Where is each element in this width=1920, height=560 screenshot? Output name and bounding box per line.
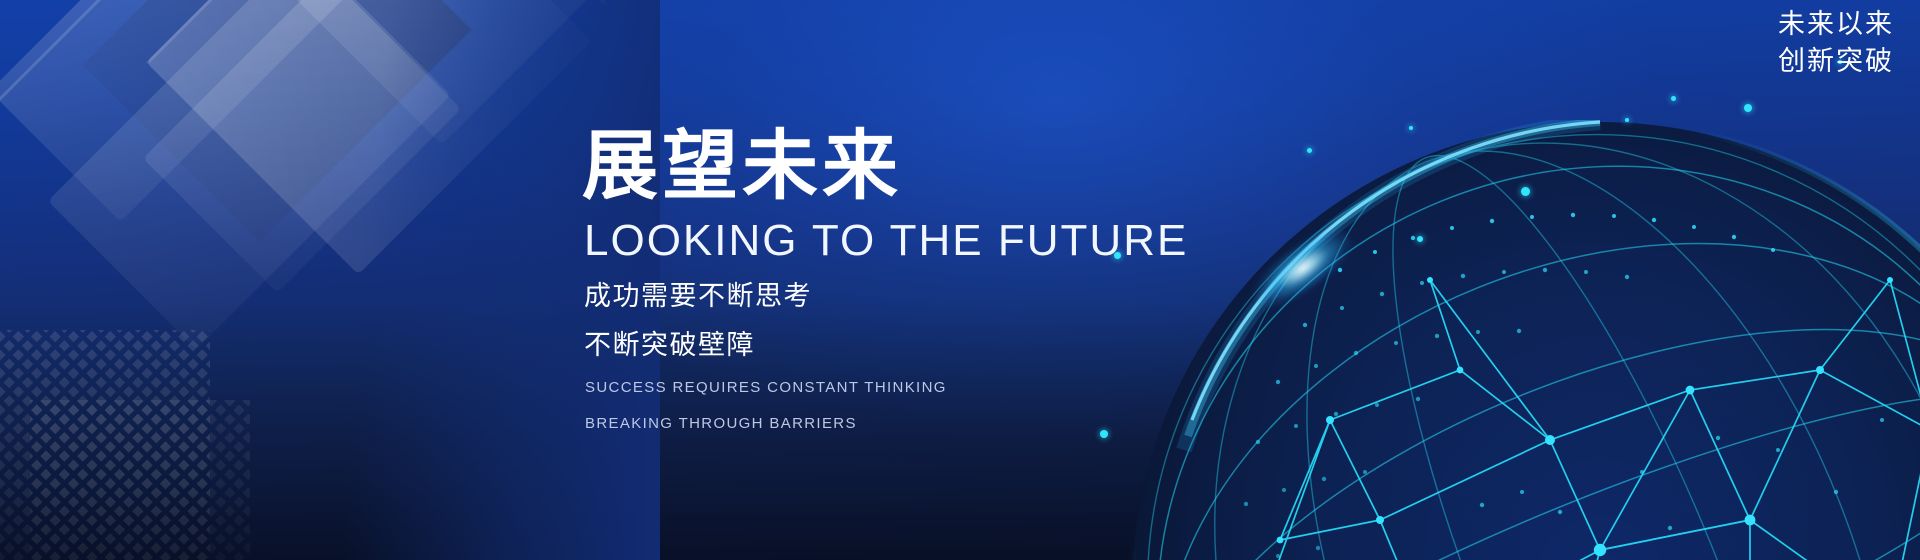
sparkle-dot bbox=[1521, 187, 1530, 196]
diagonal-slabs-svg bbox=[0, 0, 660, 560]
subtitle-chinese-line-1: 成功需要不断思考 bbox=[584, 279, 1188, 315]
sparkle-dot bbox=[1417, 236, 1423, 242]
sparkle-dot bbox=[1671, 96, 1676, 101]
wireframe-network-globe bbox=[1130, 120, 1920, 560]
globe-svg bbox=[1130, 120, 1920, 560]
promo-banner: 展望未来 LOOKING TO THE FUTURE 成功需要不断思考 不断突破… bbox=[0, 0, 1920, 560]
globe-dot-stipple bbox=[1238, 213, 1884, 560]
corner-slogan: 未来以来 创新突破 bbox=[1778, 6, 1894, 79]
left-decoration-fade bbox=[0, 0, 660, 560]
subtitle-chinese-line-2: 不断突破壁障 bbox=[584, 328, 1188, 364]
globe-network-nodes bbox=[1247, 277, 1920, 560]
left-geometric-decoration bbox=[0, 0, 660, 560]
page-title-english: LOOKING TO THE FUTURE bbox=[584, 216, 1188, 265]
dot-grid-pattern bbox=[0, 330, 250, 560]
sparkle-dot bbox=[1307, 148, 1312, 153]
sparkle-dot bbox=[1744, 104, 1752, 112]
headline-block: 展望未来 LOOKING TO THE FUTURE 成功需要不断思考 不断突破… bbox=[582, 128, 1188, 437]
corner-slogan-line-1: 未来以来 bbox=[1778, 6, 1894, 43]
corner-slogan-line-2: 创新突破 bbox=[1778, 43, 1894, 80]
sparkle-dot bbox=[1409, 126, 1413, 130]
page-title: 展望未来 bbox=[582, 128, 1188, 206]
subtitle-english-line-1: SUCCESS REQUIRES CONSTANT THINKING bbox=[585, 376, 1188, 400]
globe-network-mesh bbox=[1250, 280, 1920, 560]
globe-rim-glow bbox=[1246, 218, 1361, 318]
subtitle-english-line-2: BREAKING THROUGH BARRIERS bbox=[585, 412, 1188, 436]
sparkle-dot bbox=[1625, 118, 1629, 122]
